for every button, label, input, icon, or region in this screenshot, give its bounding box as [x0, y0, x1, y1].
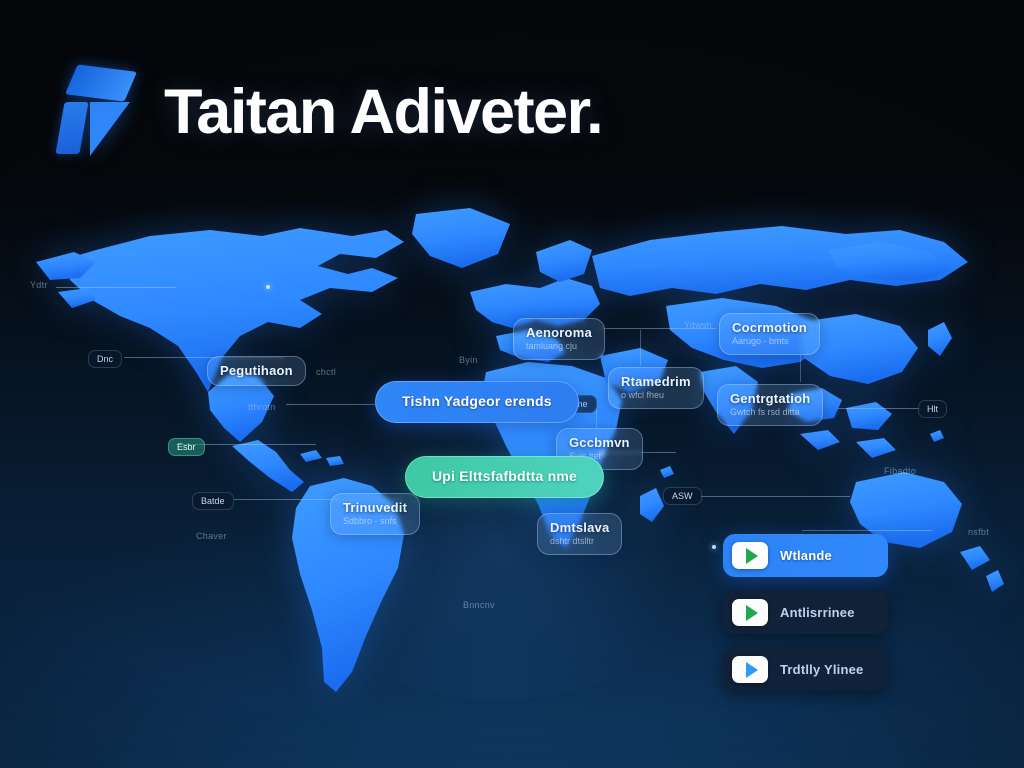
- map-region-subtitle: dshtr dtslltr: [550, 536, 609, 547]
- play-icon: [732, 599, 768, 626]
- video-button-label: Wtlande: [780, 548, 832, 563]
- map-ghost-label: Yitwsh: [684, 320, 712, 330]
- map-highlight-pill-label: Tishn Yadgeor erends: [402, 393, 552, 411]
- map-node-dot: [266, 285, 270, 289]
- map-region-subtitle: o wfcl fheu: [621, 390, 691, 401]
- map-highlight-pill[interactable]: Upi Elttsfafbdtta nme: [405, 456, 604, 498]
- map-highlight-pill-label: Upi Elttsfafbdtta nme: [432, 468, 577, 486]
- map-ghost-label: Bnncnv: [463, 600, 495, 610]
- map-region-subtitle: Gwtch fs rsd ditta: [730, 407, 810, 418]
- map-region-title: Dmtslava: [550, 520, 609, 536]
- map-region-card[interactable]: Dmtslavadshtr dtslltr: [537, 513, 622, 555]
- map-region-subtitle: tamluarig cju: [526, 341, 592, 352]
- video-play-button[interactable]: Antlisrrinee: [723, 591, 888, 634]
- map-mini-badge[interactable]: Dnc: [88, 350, 122, 368]
- map-region-title: Gentrgtatioh: [730, 391, 810, 407]
- map-region-title: Cocrmotion: [732, 320, 807, 336]
- map-mini-badge[interactable]: Esbr: [168, 438, 205, 456]
- map-region-title: Trinuvedit: [343, 500, 407, 516]
- taitan-logo-icon: [56, 64, 138, 160]
- map-ghost-label: nsfbt: [968, 527, 989, 537]
- video-play-button[interactable]: Wtlande: [723, 534, 888, 577]
- map-node-dot: [712, 545, 716, 549]
- map-ghost-label: Chaver: [196, 531, 227, 541]
- map-mini-badge[interactable]: Batde: [192, 492, 234, 510]
- map-region-title: Rtamedrim: [621, 374, 691, 390]
- page-title: Taitan Adiveter.: [164, 81, 602, 144]
- video-button-group: WtlandeAntlisrrineeTrdtlly Ylinee: [723, 534, 888, 691]
- map-ghost-label: tthrotn: [248, 402, 276, 412]
- map-ghost-label: chctl: [316, 367, 336, 377]
- map-ghost-label: Byin: [459, 355, 478, 365]
- map-highlight-pill[interactable]: Tishn Yadgeor erends: [375, 381, 579, 423]
- map-region-card[interactable]: CocrmotionAarugo - bmts: [719, 313, 820, 355]
- map-ghost-label: Fibadto: [884, 466, 916, 476]
- map-region-card[interactable]: TrinuveditSdbbro - snfs: [330, 493, 420, 535]
- map-region-card[interactable]: Aenoromatamluarig cju: [513, 318, 605, 360]
- brand-header: Taitan Adiveter.: [56, 64, 602, 160]
- map-region-title: Gccbmvn: [569, 435, 630, 451]
- video-button-label: Antlisrrinee: [780, 605, 855, 620]
- map-region-title: Aenoroma: [526, 325, 592, 341]
- poster-canvas: Taitan Adiveter.: [0, 0, 1024, 768]
- map-region-subtitle: Aarugo - bmts: [732, 336, 807, 347]
- map-region-card[interactable]: Pegutihaon: [207, 356, 306, 386]
- map-mini-badge[interactable]: ASW: [663, 487, 702, 505]
- map-region-title: Pegutihaon: [220, 363, 293, 379]
- video-play-button[interactable]: Trdtlly Ylinee: [723, 648, 888, 691]
- play-icon: [732, 656, 768, 683]
- play-icon: [732, 542, 768, 569]
- map-mini-badge[interactable]: Hlt: [918, 400, 947, 418]
- map-region-card[interactable]: Rtamedrimo wfcl fheu: [608, 367, 704, 409]
- map-ghost-label: Ydtr: [30, 280, 48, 290]
- map-region-subtitle: Sdbbro - snfs: [343, 516, 407, 527]
- video-button-label: Trdtlly Ylinee: [780, 662, 863, 677]
- map-region-card[interactable]: GentrgtatiohGwtch fs rsd ditta: [717, 384, 823, 426]
